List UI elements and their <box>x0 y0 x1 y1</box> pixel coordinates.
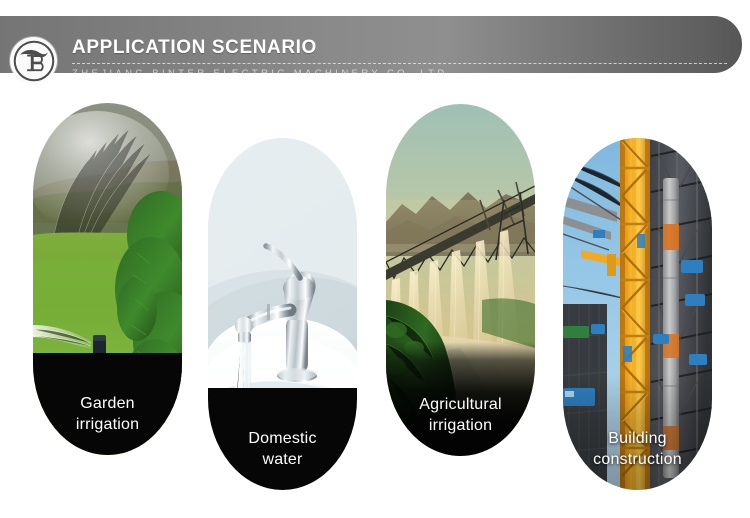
caption-line-1: Agricultural <box>419 394 501 415</box>
card-caption: Garden irrigation <box>33 353 182 455</box>
scenario-card-domestic-water[interactable]: Domestic water <box>208 138 357 490</box>
caption-line-1: Garden <box>80 393 135 414</box>
scenario-card-building-construction[interactable]: Building construction <box>563 138 712 490</box>
scenario-card-agricultural-irrigation[interactable]: Agricultural irrigation <box>386 104 535 456</box>
caption-line-2: irrigation <box>76 414 139 435</box>
caption-line-1: Building <box>608 428 667 449</box>
card-caption: Agricultural irrigation <box>386 342 535 456</box>
caption-line-2: water <box>262 449 302 470</box>
scenario-card-garden-irrigation[interactable]: Garden irrigation <box>33 103 182 455</box>
application-scenario-banner: APPLICATION SCENARIO ZHEJIANG BINTER ELE… <box>0 0 750 518</box>
caption-line-1: Domestic <box>248 428 316 449</box>
scenario-card-list: Garden irrigation <box>0 0 750 518</box>
card-caption: Building construction <box>563 374 712 490</box>
caption-line-2: construction <box>593 449 682 470</box>
card-caption: Domestic water <box>208 388 357 490</box>
caption-line-2: irrigation <box>429 415 492 436</box>
